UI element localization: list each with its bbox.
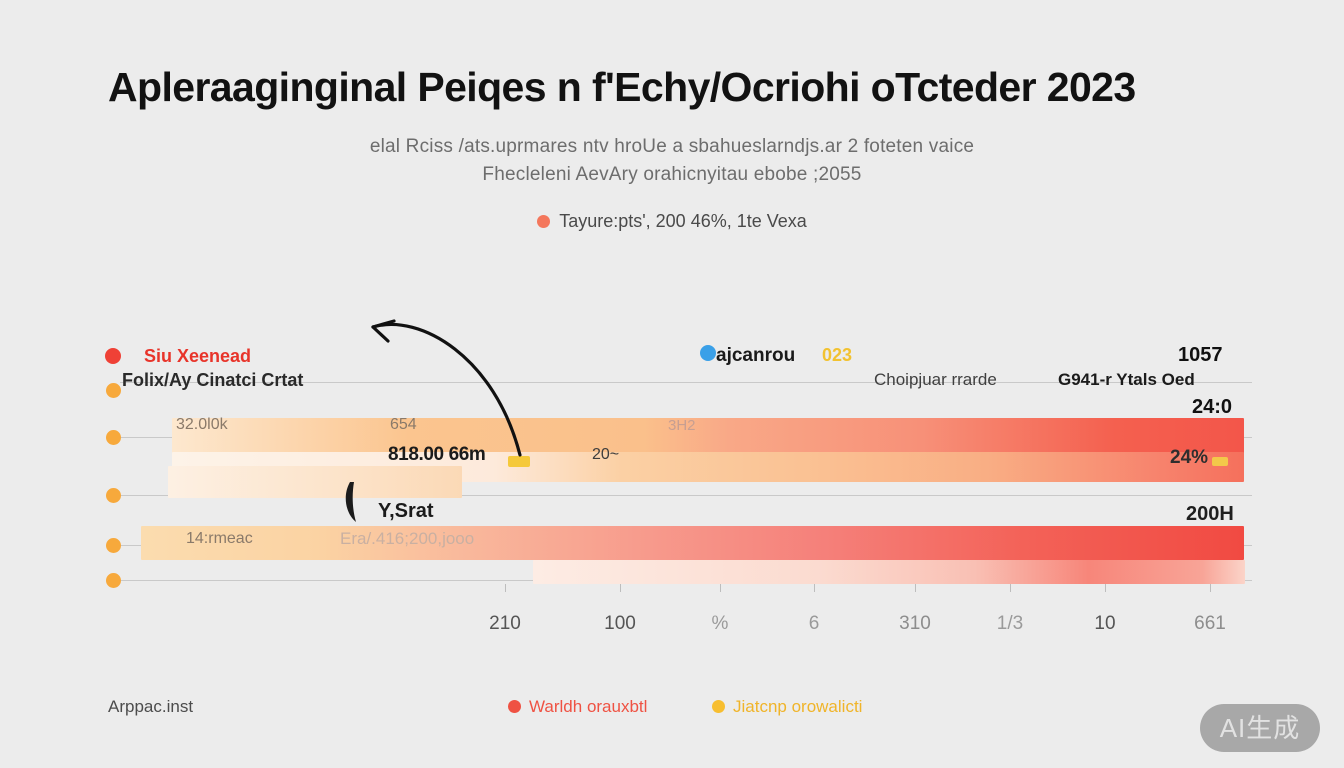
ai-generated-badge: AI生成 (1200, 704, 1320, 752)
value-right-4: 200H (1186, 503, 1234, 526)
value-right-2: 24:0 (1192, 396, 1232, 419)
x-tick-label-2: 100 (604, 613, 636, 635)
annotation-mid-grey: Choipjuar rrarde (874, 370, 997, 390)
top-legend: Tayure:pts', 200 46%, 1te Vexa (0, 211, 1344, 232)
value-right-3: 24% (1170, 447, 1208, 469)
x-tick-mark (814, 584, 815, 592)
legend-yellow-label: Jiatcnp orowalicti (733, 697, 862, 716)
axis-marker-dot-4[interactable] (106, 488, 121, 503)
curved-arrow-annotation (360, 305, 560, 480)
annotation-left-dark: Folix/Ay Cinatci Crtat (122, 370, 303, 391)
legend-item-red[interactable]: Warldh orauxbtl (508, 697, 647, 717)
x-tick-label-1: 210 (489, 613, 521, 635)
annotation-mid-bold-2: G941-r Ytals Oed (1058, 370, 1195, 390)
bar-row-4[interactable] (141, 526, 1244, 560)
x-tick-mark (1210, 584, 1211, 592)
legend-red-label: Warldh orauxbtl (529, 697, 647, 716)
bar-4-label-b: Era/.416;200,jooo (340, 529, 474, 549)
x-tick-label-8: 661 (1194, 613, 1226, 635)
value-right-1: 1057 (1178, 344, 1223, 367)
x-tick-mark (1010, 584, 1011, 592)
x-tick-mark (915, 584, 916, 592)
axis-marker-dot-2[interactable] (106, 383, 121, 398)
bar-2-label-b: 20~ (592, 446, 619, 464)
top-legend-label: Tayure:pts', 200 46%, 1te Vexa (559, 211, 807, 231)
x-tick-mark (620, 584, 621, 592)
bar-row-1[interactable] (172, 418, 1244, 454)
bar-4-label-a: 14:rmeac (186, 530, 253, 548)
annotation-mid-bold: ajcanrou (716, 345, 795, 367)
x-tick-label-3: % (712, 613, 729, 635)
legend-red-dot-icon (508, 700, 521, 713)
x-tick-label-7: 10 (1094, 613, 1115, 635)
x-tick-mark (720, 584, 721, 592)
x-tick-label-5: 310 (899, 613, 931, 635)
chart-canvas: Apleraaginginal Peiqes n f'Echy/Ocriohi … (0, 0, 1344, 768)
axis-marker-dot-5[interactable] (106, 538, 121, 553)
x-tick-label-4: 6 (809, 613, 820, 635)
legend-item-yellow[interactable]: Jiatcnp orowalicti (712, 697, 862, 717)
axis-marker-dot-6[interactable] (106, 573, 121, 588)
subtitle-line-2: Fhecleleni AevAry orahicnyitau ebobe ;20… (0, 164, 1344, 186)
hook-annotation (340, 478, 380, 528)
bar-1-label-c: 3H2 (668, 417, 696, 434)
x-tick-label-6: 1/3 (997, 613, 1023, 635)
blue-dot-icon (700, 345, 716, 361)
page-title: Apleraaginginal Peiqes n f'Echy/Ocriohi … (108, 64, 1228, 111)
axis-marker-dot-1[interactable] (105, 348, 121, 364)
x-tick-mark (505, 584, 506, 592)
bar-row-5[interactable] (533, 560, 1245, 584)
footer-label: Arppac.inst (108, 697, 193, 717)
annotation-mid-yellow: 023 (822, 345, 852, 366)
axis-marker-dot-3[interactable] (106, 430, 121, 445)
callout-value-2: Y,Srat (378, 500, 434, 523)
marker-yellow-right[interactable] (1212, 457, 1228, 466)
legend-dot-icon (537, 215, 550, 228)
legend-yellow-dot-icon (712, 700, 725, 713)
annotation-left-red: Siu Xeenead (144, 346, 251, 367)
subtitle-line-1: elal Rciss /ats.uprmares ntv hroUe a sba… (0, 136, 1344, 158)
bar-1-label-a: 32.0l0k (176, 416, 228, 434)
x-tick-mark (1105, 584, 1106, 592)
